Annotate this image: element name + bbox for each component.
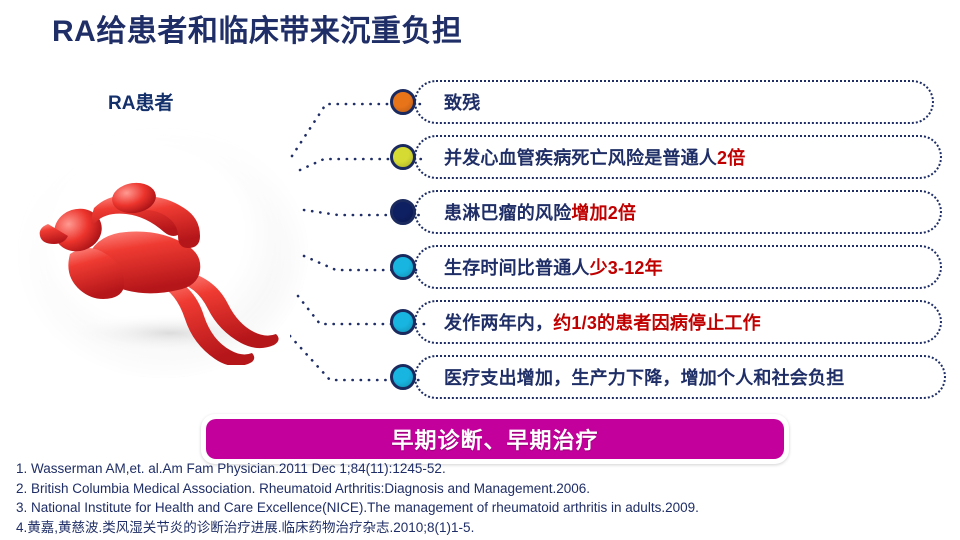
reference-line-4: 4.黄嘉,黄慈波.类风湿关节炎的诊断治疗进展.临床药物治疗杂志.2010;8(1…	[16, 518, 960, 538]
row-text-highlight-3: 增加2倍	[571, 203, 636, 223]
bullet-marker-1	[390, 89, 416, 115]
references-block: 1. Wasserman AM,et. al.Am Fam Physician.…	[16, 459, 960, 537]
reference-line-2: 2. British Columbia Medical Association.…	[16, 479, 960, 499]
row-text-highlight-5: 约1/3的患者因病停止工作	[553, 313, 761, 333]
list-item[interactable]: 并发心血管疾病死亡风险是普通人2倍	[414, 135, 942, 179]
list-item[interactable]: 发作两年内，约1/3的患者因病停止工作	[414, 300, 942, 344]
list-item[interactable]: 致残	[414, 80, 934, 124]
row-text-6: 医疗支出增加，生产力下降，增加个人和社会负担	[444, 364, 844, 390]
slide-canvas: RA给患者和临床带来沉重负担 RA患者	[0, 0, 960, 540]
row-text-plain-2: 并发心血管疾病死亡风险是普通人	[444, 148, 717, 168]
list-item[interactable]: 医疗支出增加，生产力下降，增加个人和社会负担	[414, 355, 946, 399]
row-text-plain-5: 发作两年内，	[444, 313, 553, 333]
patient-label: RA患者	[108, 88, 173, 115]
page-title: RA给患者和临床带来沉重负担	[52, 6, 462, 50]
row-text-1: 致残	[444, 89, 480, 115]
row-text-plain-1: 致残	[444, 93, 480, 113]
row-text-3: 患淋巴瘤的风险增加2倍	[444, 199, 636, 225]
burden-list: 致残 并发心血管疾病死亡风险是普通人2倍 患淋巴瘤的风险增加2倍 生存时间比普通…	[396, 76, 944, 406]
bullet-marker-3	[390, 199, 416, 225]
list-item[interactable]: 生存时间比普通人少3-12年	[414, 245, 942, 289]
reference-line-3: 3. National Institute for Health and Car…	[16, 498, 960, 518]
row-text-highlight-4: 少3-12年	[590, 258, 663, 278]
row-text-highlight-2: 2倍	[717, 148, 745, 168]
ra-patient-figure	[30, 150, 300, 365]
row-text-4: 生存时间比普通人少3-12年	[444, 254, 663, 280]
cta-banner[interactable]: 早期诊断、早期治疗	[206, 419, 784, 459]
list-item[interactable]: 患淋巴瘤的风险增加2倍	[414, 190, 942, 234]
bullet-marker-4	[390, 254, 416, 280]
row-text-plain-6: 医疗支出增加，生产力下降，增加个人和社会负担	[444, 368, 844, 388]
bullet-marker-5	[390, 309, 416, 335]
row-text-plain-3: 患淋巴瘤的风险	[444, 203, 571, 223]
row-text-plain-4: 生存时间比普通人	[444, 258, 590, 278]
bullet-marker-2	[390, 144, 416, 170]
row-outline	[414, 80, 934, 124]
bullet-marker-6	[390, 364, 416, 390]
cta-banner-label: 早期诊断、早期治疗	[391, 423, 598, 455]
row-text-2: 并发心血管疾病死亡风险是普通人2倍	[444, 144, 745, 170]
reference-line-1: 1. Wasserman AM,et. al.Am Fam Physician.…	[16, 459, 960, 479]
row-text-5: 发作两年内，约1/3的患者因病停止工作	[444, 309, 761, 335]
